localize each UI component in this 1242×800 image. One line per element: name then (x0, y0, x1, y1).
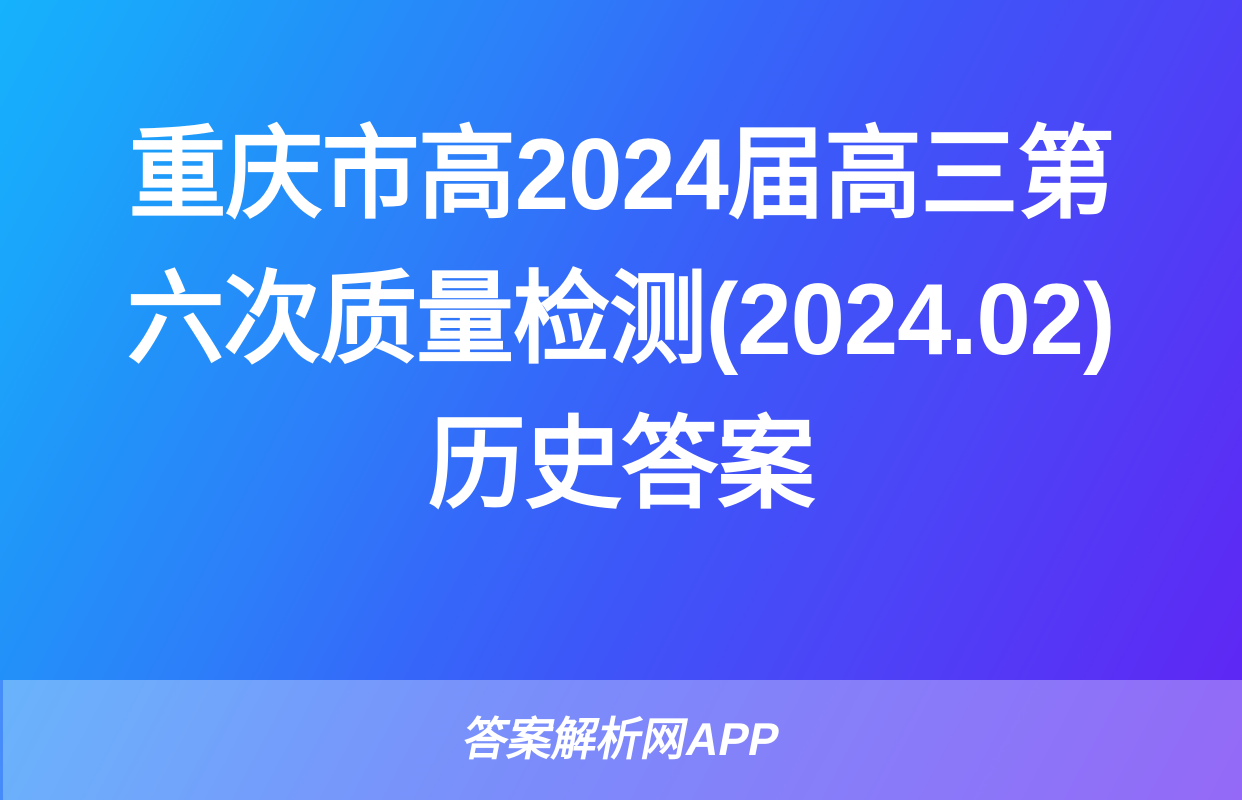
page-title-line-2: 六次质量检测(2024.02) (127, 248, 1115, 393)
app-watermark-label: 答案解析网APP (459, 716, 783, 764)
exam-answer-poster: 重庆市高2024届高三第 六次质量检测(2024.02) 历史答案 答案解析网A… (0, 0, 1242, 800)
page-title-line-3: 历史答案 (428, 393, 814, 538)
footer-left-edge-strip (0, 680, 3, 800)
poster-title-block: 重庆市高2024届高三第 六次质量检测(2024.02) 历史答案 (0, 0, 1242, 680)
footer-watermark-band: 答案解析网APP (0, 680, 1242, 800)
page-title-line-1: 重庆市高2024届高三第 (129, 103, 1114, 248)
